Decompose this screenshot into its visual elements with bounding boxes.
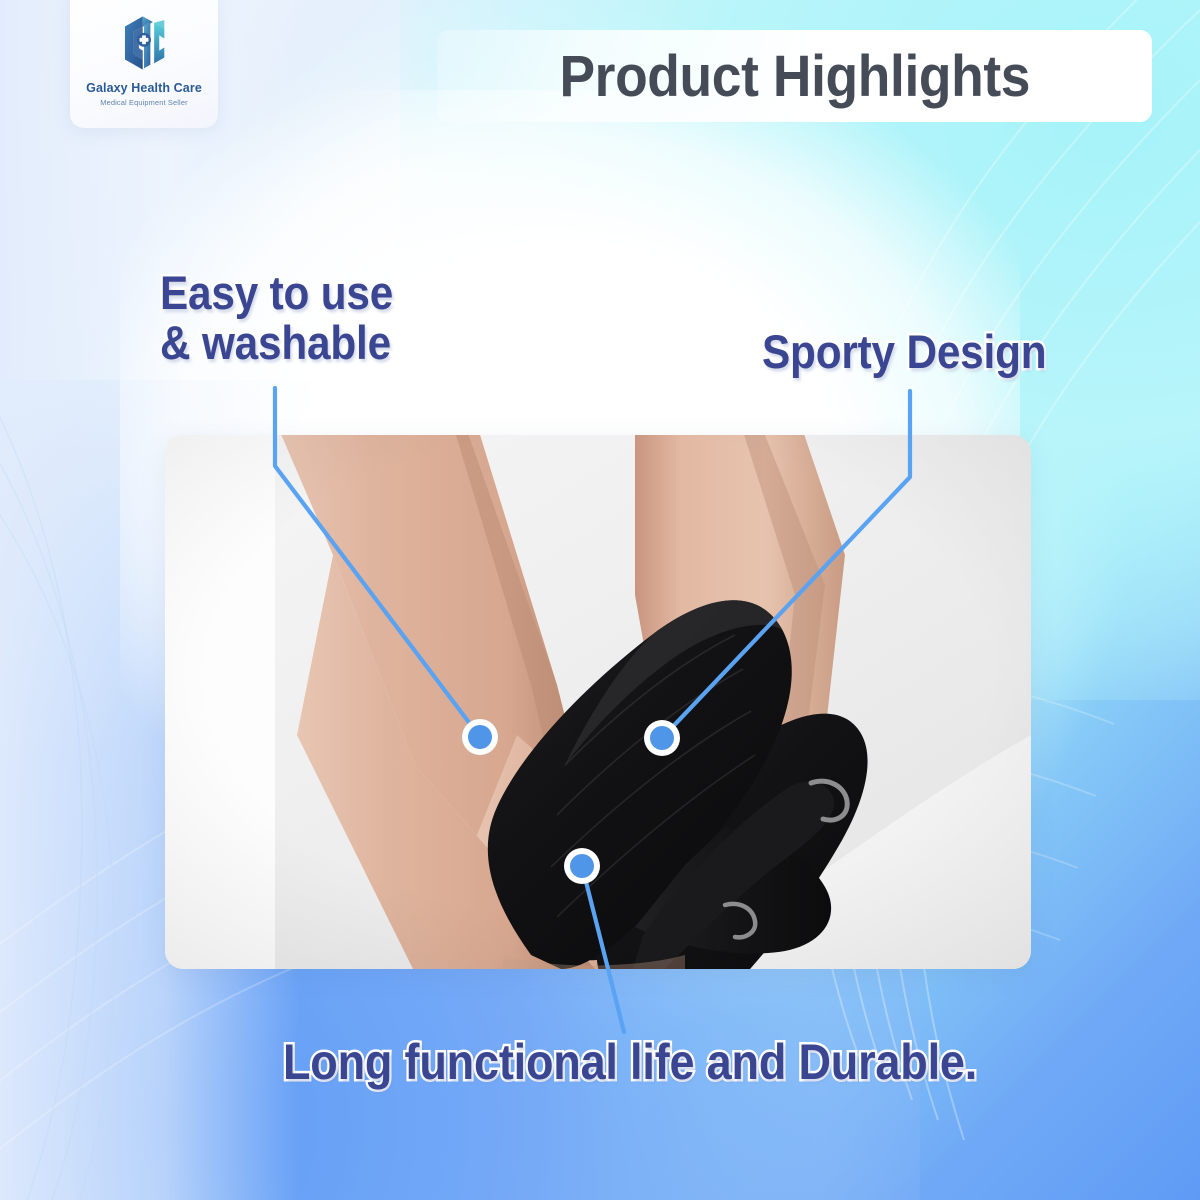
brand-tagline: Medical Equipment Seller — [100, 99, 187, 106]
callout-label-sporty-design: Sporty Design — [762, 327, 1046, 377]
page-title: Product Highlights — [559, 43, 1030, 110]
ghc-hexagon-monogram-icon — [105, 10, 183, 76]
brand-name: Galaxy Health Care — [86, 82, 202, 95]
callout-label-easy-to-use: Easy to use & washable — [160, 268, 393, 368]
product-photo-card — [165, 435, 1031, 969]
callout-label-long-functional-life: Long functional life and Durable. — [283, 1036, 977, 1089]
arm-wearing-black-elbow-brace-photo — [165, 435, 1031, 969]
header-card: Product Highlights — [437, 30, 1152, 122]
brand-logo-card: Galaxy Health Care Medical Equipment Sel… — [70, 0, 218, 128]
